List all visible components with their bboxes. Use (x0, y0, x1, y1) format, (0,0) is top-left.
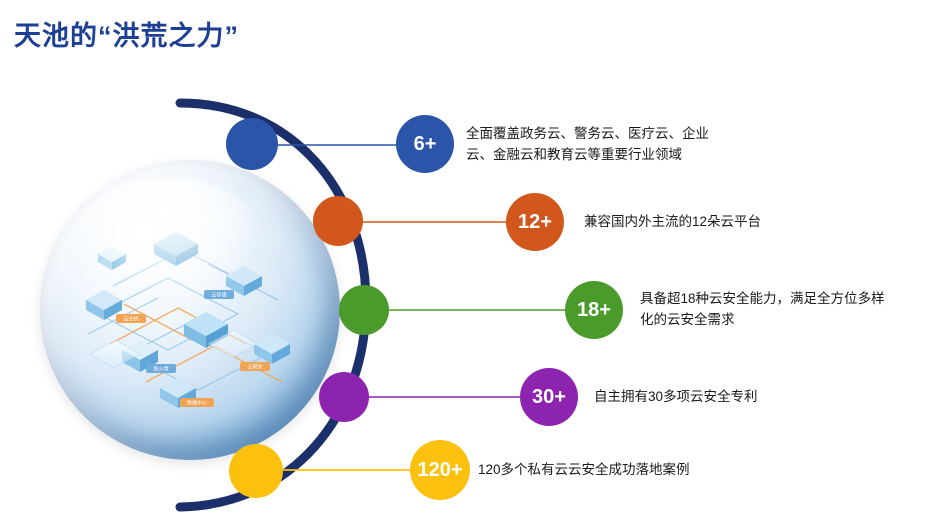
badge-bubble-4[interactable]: 30+ (520, 368, 578, 426)
svg-text:防火墙: 防火墙 (153, 366, 168, 373)
glass-sphere: 云主机 云存储 云网关 防火墙 数据中心 (40, 160, 340, 460)
cloud-network-isometric-illustration: 云主机 云存储 云网关 防火墙 数据中心 (58, 194, 324, 434)
item-description-5: 120多个私有云云安全成功落地案例 (478, 460, 818, 481)
item-description-1: 全面覆盖政务云、警务云、医疗云、企业 云、金融云和教育云等重要行业领域 (466, 124, 766, 166)
svg-text:云网关: 云网关 (247, 364, 262, 371)
item-description-4: 自主拥有30多项云安全专利 (594, 387, 914, 408)
svg-text:云存储: 云存储 (211, 292, 226, 299)
svg-text:数据中心: 数据中心 (187, 400, 207, 407)
page-title: 天池的“洪荒之力” (14, 14, 239, 53)
sphere-illustration-container: 云主机 云存储 云网关 防火墙 数据中心 (40, 160, 340, 460)
svg-text:云主机: 云主机 (123, 316, 138, 323)
badge-bubble-3[interactable]: 18+ (565, 281, 623, 339)
node-dot-3 (339, 285, 389, 335)
node-dot-5 (229, 444, 283, 498)
badge-bubble-5[interactable]: 120+ (410, 440, 470, 500)
item-description-2: 兼容国内外主流的12朵云平台 (584, 212, 904, 233)
node-dot-4 (319, 372, 369, 422)
badge-bubble-2[interactable]: 12+ (506, 193, 564, 251)
badge-bubble-1[interactable]: 6+ (396, 115, 454, 173)
item-description-3: 具备超18种云安全能力，满足全方位多样 化的云安全需求 (640, 289, 920, 331)
node-dot-2 (313, 196, 363, 246)
node-dot-1 (226, 118, 278, 170)
